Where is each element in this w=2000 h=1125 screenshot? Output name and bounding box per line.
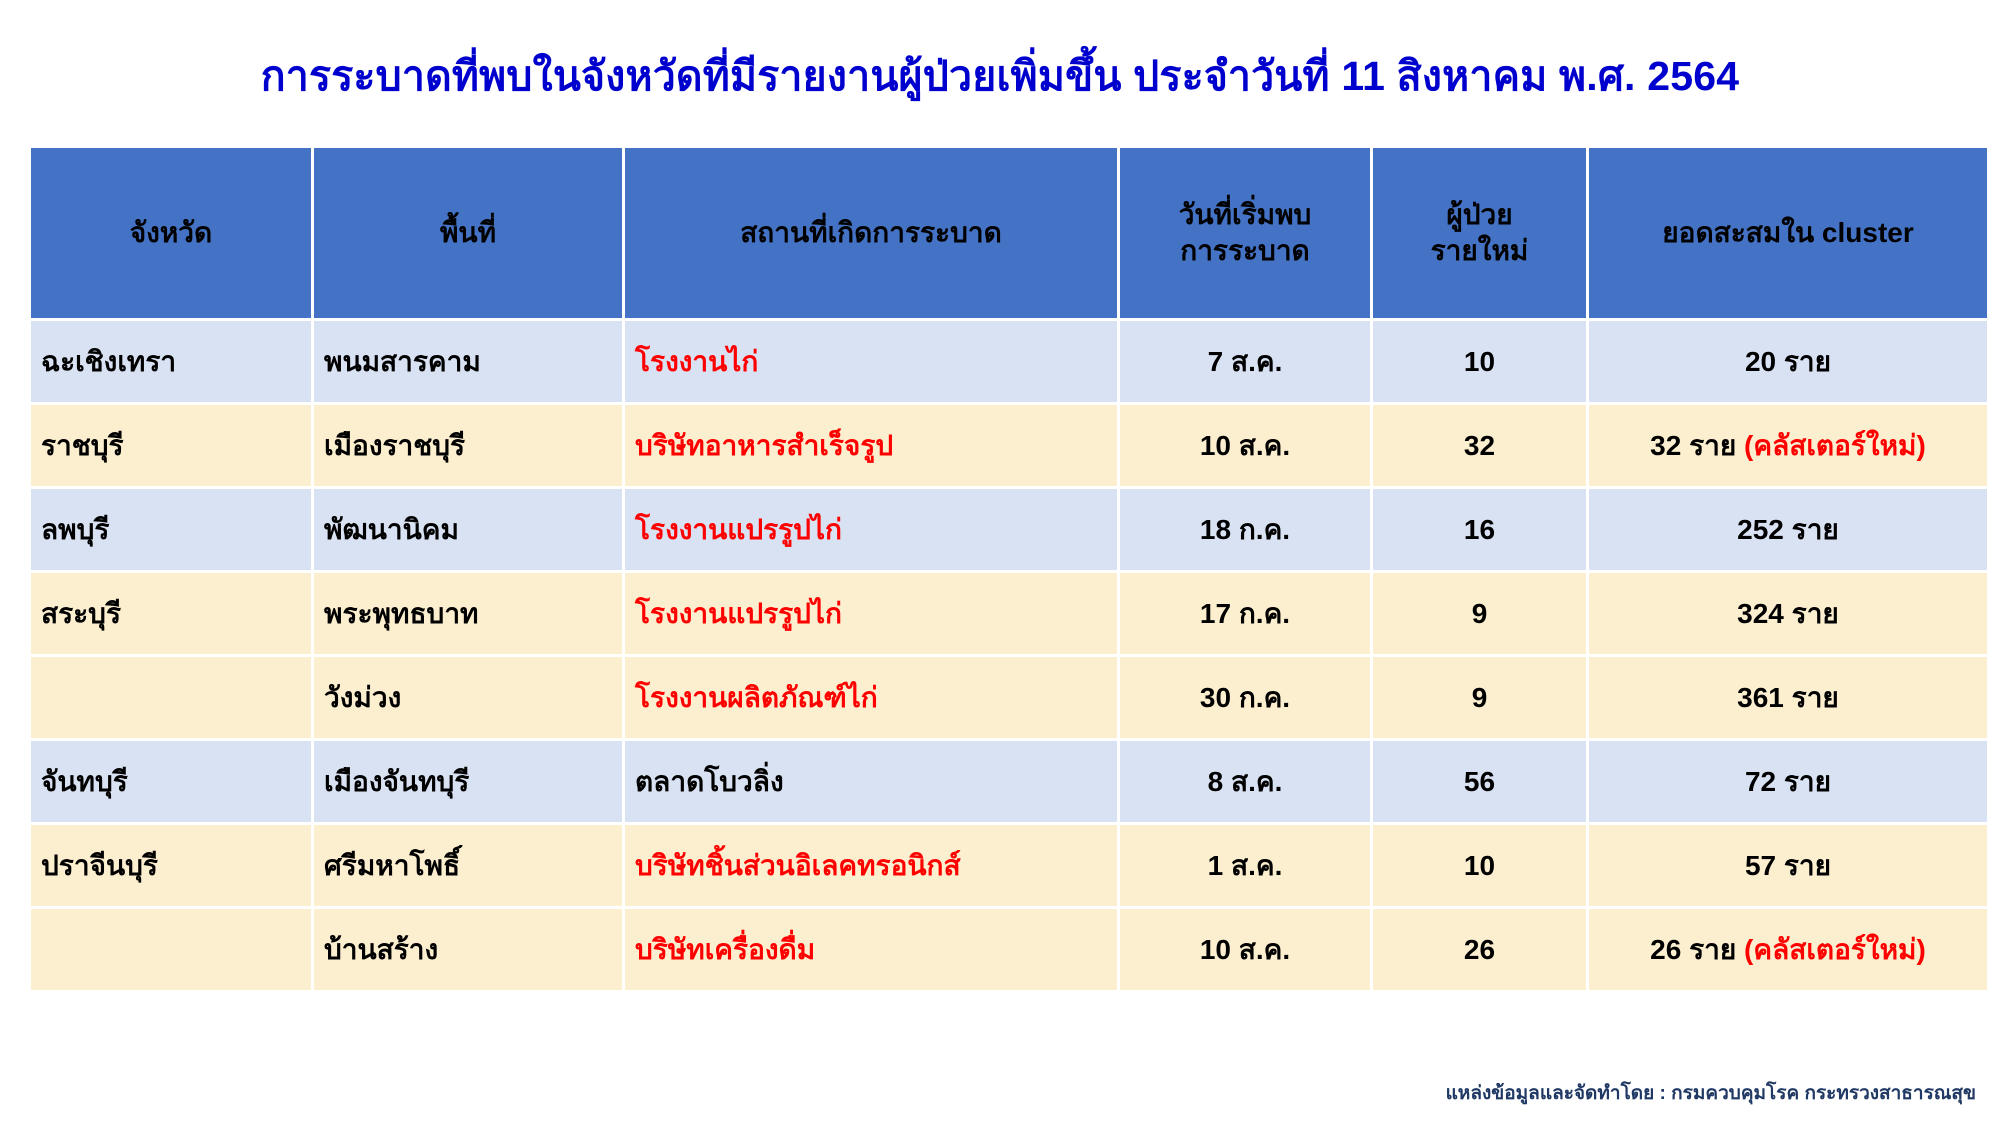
cell-place: บริษัทอาหารสำเร็จรูป — [625, 405, 1117, 486]
cell-start-date: 30 ก.ค. — [1120, 657, 1370, 738]
column-header-area-line1: พื้นที่ — [324, 215, 612, 251]
cell-cluster-total: 57 ราย — [1589, 825, 1987, 906]
table-row: ลพบุรี พัฒนานิคม โรงงานแปรรูปไก่ 18 ก.ค.… — [31, 489, 1987, 570]
cell-province: ลพบุรี — [31, 489, 311, 570]
cell-place-text: ตลาดโบวลิ่ง — [635, 766, 784, 797]
cell-area: พระพุทธบาท — [314, 573, 622, 654]
cell-place: โรงงานไก่ — [625, 321, 1117, 402]
cell-place-text: บริษัทเครื่องดื่ม — [635, 934, 815, 965]
cell-new-cases: 32 — [1373, 405, 1586, 486]
table-body: ฉะเชิงเทรา พนมสารคาม โรงงานไก่ 7 ส.ค. 10… — [31, 321, 1987, 990]
cell-cluster-total-value: 20 ราย — [1745, 346, 1831, 377]
table-row: จันทบุรี เมืองจันทบุรี ตลาดโบวลิ่ง 8 ส.ค… — [31, 741, 1987, 822]
cell-province — [31, 909, 311, 990]
outbreak-table: จังหวัด พื้นที่ สถานที่เกิดการระบาด วันท… — [28, 145, 1990, 993]
cell-place: บริษัทชิ้นส่วนอิเลคทรอนิกส์ — [625, 825, 1117, 906]
column-header-place: สถานที่เกิดการระบาด — [625, 148, 1117, 318]
cell-area: ศรีมหาโพธิ์ — [314, 825, 622, 906]
cell-start-date: 1 ส.ค. — [1120, 825, 1370, 906]
cell-new-cases: 10 — [1373, 321, 1586, 402]
footer-credit: แหล่งข้อมูลและจัดทำโดย : กรมควบคุมโรค กร… — [1446, 1078, 1976, 1108]
cell-cluster-total: 324 ราย — [1589, 573, 1987, 654]
column-header-place-line1: สถานที่เกิดการระบาด — [635, 215, 1107, 251]
cell-province: ฉะเชิงเทรา — [31, 321, 311, 402]
cell-cluster-total: 26 ราย (คลัสเตอร์ใหม่) — [1589, 909, 1987, 990]
cell-area: บ้านสร้าง — [314, 909, 622, 990]
table-row: วังม่วง โรงงานผลิตภัณฑ์ไก่ 30 ก.ค. 9 361… — [31, 657, 1987, 738]
column-header-province-line1: จังหวัด — [41, 215, 301, 251]
page-title: การระบาดที่พบในจังหวัดที่มีรายงานผู้ป่วย… — [0, 44, 2000, 109]
cell-start-date: 17 ก.ค. — [1120, 573, 1370, 654]
column-header-start-date-line1: วันที่เริ่มพบ — [1130, 197, 1360, 233]
cell-place: โรงงานผลิตภัณฑ์ไก่ — [625, 657, 1117, 738]
column-header-new-cases: ผู้ป่วย รายใหม่ — [1373, 148, 1586, 318]
column-header-new-cases-line1: ผู้ป่วย — [1383, 197, 1576, 233]
table-header-row: จังหวัด พื้นที่ สถานที่เกิดการระบาด วันท… — [31, 148, 1987, 318]
cell-start-date: 7 ส.ค. — [1120, 321, 1370, 402]
cell-place-text: โรงงานแปรรูปไก่ — [635, 598, 842, 629]
cell-start-date: 10 ส.ค. — [1120, 405, 1370, 486]
table-row: ฉะเชิงเทรา พนมสารคาม โรงงานไก่ 7 ส.ค. 10… — [31, 321, 1987, 402]
cell-area: เมืองจันทบุรี — [314, 741, 622, 822]
column-header-cluster-total-line1: ยอดสะสมใน cluster — [1599, 215, 1977, 251]
cell-place: บริษัทเครื่องดื่ม — [625, 909, 1117, 990]
column-header-province: จังหวัด — [31, 148, 311, 318]
cell-place: โรงงานแปรรูปไก่ — [625, 489, 1117, 570]
cell-place-text: โรงงานผลิตภัณฑ์ไก่ — [635, 682, 878, 713]
column-header-cluster-total: ยอดสะสมใน cluster — [1589, 148, 1987, 318]
cell-place-text: โรงงานไก่ — [635, 346, 758, 377]
table-row: ราชบุรี เมืองราชบุรี บริษัทอาหารสำเร็จรู… — [31, 405, 1987, 486]
cell-new-cases: 16 — [1373, 489, 1586, 570]
cell-new-cases: 9 — [1373, 573, 1586, 654]
cell-area: พนมสารคาม — [314, 321, 622, 402]
cell-new-cases: 9 — [1373, 657, 1586, 738]
cell-area: พัฒนานิคม — [314, 489, 622, 570]
table-header: จังหวัด พื้นที่ สถานที่เกิดการระบาด วันท… — [31, 148, 1987, 318]
cell-new-cases: 26 — [1373, 909, 1586, 990]
cell-cluster-total-value: 32 ราย — [1650, 430, 1736, 461]
table-row: สระบุรี พระพุทธบาท โรงงานแปรรูปไก่ 17 ก.… — [31, 573, 1987, 654]
cell-province: ราชบุรี — [31, 405, 311, 486]
cell-cluster-total-value: 72 ราย — [1745, 766, 1831, 797]
cell-province — [31, 657, 311, 738]
cell-cluster-total-value: 26 ราย — [1650, 934, 1736, 965]
cell-start-date: 10 ส.ค. — [1120, 909, 1370, 990]
cell-area: วังม่วง — [314, 657, 622, 738]
cell-cluster-total-value: 361 ราย — [1737, 682, 1839, 713]
cell-start-date: 18 ก.ค. — [1120, 489, 1370, 570]
cell-province: ปราจีนบุรี — [31, 825, 311, 906]
cell-cluster-total: 361 ราย — [1589, 657, 1987, 738]
cell-province: จันทบุรี — [31, 741, 311, 822]
column-header-new-cases-line2: รายใหม่ — [1383, 233, 1576, 269]
table-row: ปราจีนบุรี ศรีมหาโพธิ์ บริษัทชิ้นส่วนอิเ… — [31, 825, 1987, 906]
cell-cluster-total-value: 57 ราย — [1745, 850, 1831, 881]
column-header-area: พื้นที่ — [314, 148, 622, 318]
cell-place-text: บริษัทชิ้นส่วนอิเลคทรอนิกส์ — [635, 850, 961, 881]
cell-cluster-total: 72 ราย — [1589, 741, 1987, 822]
cell-place: ตลาดโบวลิ่ง — [625, 741, 1117, 822]
cell-cluster-total-value: 252 ราย — [1737, 514, 1839, 545]
cell-area: เมืองราชบุรี — [314, 405, 622, 486]
cell-place-text: โรงงานแปรรูปไก่ — [635, 514, 842, 545]
cell-cluster-total-note: (คลัสเตอร์ใหม่) — [1744, 430, 1926, 461]
cell-new-cases: 10 — [1373, 825, 1586, 906]
table-row: บ้านสร้าง บริษัทเครื่องดื่ม 10 ส.ค. 26 2… — [31, 909, 1987, 990]
cell-cluster-total-value: 324 ราย — [1737, 598, 1839, 629]
column-header-start-date: วันที่เริ่มพบ การระบาด — [1120, 148, 1370, 318]
cell-cluster-total: 252 ราย — [1589, 489, 1987, 570]
column-header-start-date-line2: การระบาด — [1130, 233, 1360, 269]
cell-province: สระบุรี — [31, 573, 311, 654]
cell-place-text: บริษัทอาหารสำเร็จรูป — [635, 430, 893, 461]
cell-new-cases: 56 — [1373, 741, 1586, 822]
cell-start-date: 8 ส.ค. — [1120, 741, 1370, 822]
cell-cluster-total: 20 ราย — [1589, 321, 1987, 402]
outbreak-table-container: จังหวัด พื้นที่ สถานที่เกิดการระบาด วันท… — [28, 145, 1975, 993]
cell-place: โรงงานแปรรูปไก่ — [625, 573, 1117, 654]
cell-cluster-total: 32 ราย (คลัสเตอร์ใหม่) — [1589, 405, 1987, 486]
cell-cluster-total-note: (คลัสเตอร์ใหม่) — [1744, 934, 1926, 965]
